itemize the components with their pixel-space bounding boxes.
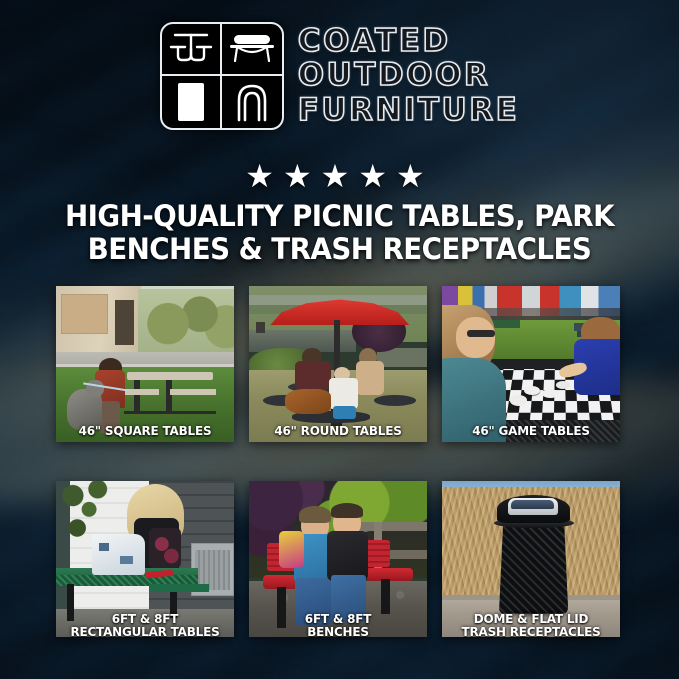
product-caption-game-tables: 46" GAME TABLES (443, 425, 620, 438)
picnic-table-icon (162, 24, 222, 76)
product-photo-round-tables (249, 286, 427, 442)
brand-logo: COATED OUTDOOR FURNITURE (0, 22, 679, 130)
star-rating: ★★★★★ (0, 160, 679, 192)
trash-receptacle-icon (162, 76, 222, 128)
headline-line-1: HIGH-QUALITY PICNIC TABLES, PARK (39, 200, 640, 233)
brand-line-1: COATED (298, 25, 520, 58)
park-bench-icon (222, 24, 282, 76)
logo-icon-grid (160, 22, 284, 130)
product-photo-game-tables (442, 286, 620, 442)
product-tile-round-tables[interactable]: 46" ROUND TABLES (249, 286, 427, 442)
caption-line: TRASH RECEPTACLES (443, 626, 620, 639)
product-caption-rectangular-tables: 6FT & 8FT RECTANGULAR TABLES (57, 613, 234, 639)
product-tile-benches[interactable]: 6FT & 8FT BENCHES (249, 481, 427, 637)
product-tile-game-tables[interactable]: 46" GAME TABLES (442, 286, 620, 442)
caption-line: RECTANGULAR TABLES (57, 626, 234, 639)
caption-line: 46" ROUND TABLES (250, 425, 427, 438)
product-caption-square-tables: 46" SQUARE TABLES (57, 425, 234, 438)
product-tile-trash-receptacles[interactable]: DOME & FLAT LID TRASH RECEPTACLES (442, 481, 620, 637)
star-icon-4: ★ (358, 160, 396, 192)
star-icon-3: ★ (321, 160, 359, 192)
headline-line-2: BENCHES & TRASH RECEPTACLES (39, 233, 640, 266)
product-photo-square-tables (56, 286, 234, 442)
star-icon-2: ★ (283, 160, 321, 192)
brand-line-2: OUTDOOR (298, 59, 520, 92)
caption-line: BENCHES (250, 626, 427, 639)
product-caption-round-tables: 46" ROUND TABLES (250, 425, 427, 438)
product-tile-rectangular-tables[interactable]: 6FT & 8FT RECTANGULAR TABLES (56, 481, 234, 637)
product-tile-grid: 46" SQUARE TABLES (56, 286, 624, 637)
product-caption-benches: 6FT & 8FT BENCHES (250, 613, 427, 639)
product-tile-square-tables[interactable]: 46" SQUARE TABLES (56, 286, 234, 442)
caption-line: 46" SQUARE TABLES (57, 425, 234, 438)
page-title: HIGH-QUALITY PICNIC TABLES, PARK BENCHES… (39, 200, 640, 266)
brand-line-3: FURNITURE (298, 94, 520, 127)
brand-wordmark: COATED OUTDOOR FURNITURE (298, 25, 520, 127)
product-caption-trash-receptacles: DOME & FLAT LID TRASH RECEPTACLES (443, 613, 620, 639)
star-icon-1: ★ (245, 160, 283, 192)
star-icon-5: ★ (396, 160, 434, 192)
caption-line: 46" GAME TABLES (443, 425, 620, 438)
bike-rack-icon (222, 76, 282, 128)
